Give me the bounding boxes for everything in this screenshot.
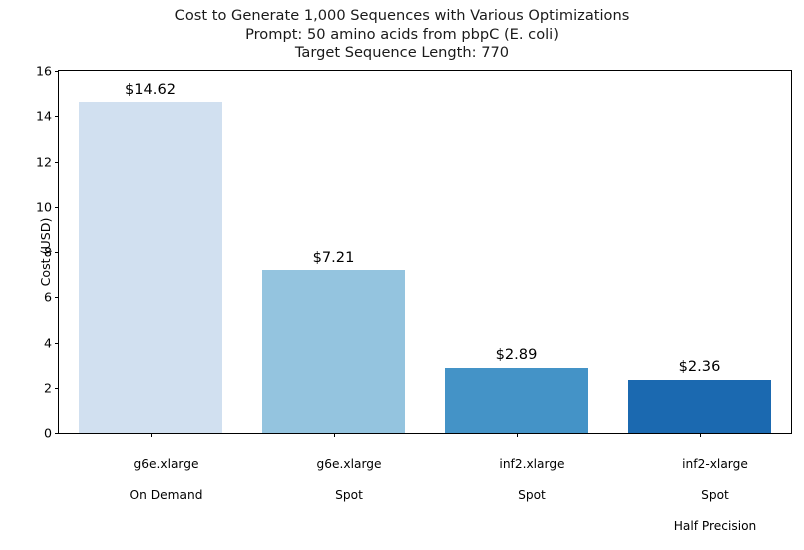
y-tick-label: 12 [36,154,52,169]
y-tick-label: 14 [36,109,52,124]
chart-title-line-2: Prompt: 50 amino acids from pbpC (E. col… [0,26,804,45]
chart-figure: Cost to Generate 1,000 Sequences with Va… [0,0,804,498]
chart-title-block: Cost to Generate 1,000 Sequences with Va… [0,7,804,63]
x-tick-label-inf2-xlarge-spot: inf2.xlarge Spot [468,441,564,519]
y-tick-label: 2 [44,380,52,395]
chart-axes: Cost (USD) 0 2 4 6 8 10 12 [58,70,792,434]
y-tick-label: 4 [44,335,52,350]
y-tick-label: 6 [44,290,52,305]
bar-g6e-xlarge-on-demand[interactable] [79,102,222,433]
chart-plot-area [59,71,791,433]
bar-inf2-xlarge-spot[interactable] [445,368,588,433]
x-tick-label-line: On Demand [130,488,203,502]
x-tick-label-g6e-xlarge-spot: g6e.xlarge Spot [286,441,382,519]
x-tick-mark [151,433,152,437]
x-tick-label-line: Spot [518,488,546,502]
y-tick-label: 16 [36,64,52,79]
y-tick-mark [55,433,59,434]
x-tick-label-line: inf2-xlarge [682,457,748,471]
bar-value-label-3: $2.89 [445,346,588,363]
chart-title-line-3: Target Sequence Length: 770 [0,44,804,63]
x-tick-label-line: Spot [335,488,363,502]
y-tick-label: 8 [44,245,52,260]
x-tick-label-g6e-xlarge-on-demand: g6e.xlarge On Demand [99,441,203,519]
x-tick-mark [517,433,518,437]
bar-value-label-4: $2.36 [628,358,771,375]
x-tick-label-line: g6e.xlarge [317,457,382,471]
bar-value-label-1: $14.62 [79,81,222,98]
bar-g6e-xlarge-spot[interactable] [262,270,405,433]
x-tick-label-line: Spot [701,488,729,502]
x-tick-label-line: inf2.xlarge [499,457,564,471]
chart-title-line-1: Cost to Generate 1,000 Sequences with Va… [0,7,804,26]
bar-inf2-xlarge-spot-half-precision[interactable] [628,380,771,433]
y-tick-label: 10 [36,199,52,214]
y-tick-label: 0 [44,426,52,441]
x-tick-label-line: g6e.xlarge [134,457,199,471]
bar-value-label-2: $7.21 [262,249,405,266]
x-tick-label-inf2-xlarge-spot-half-precision: inf2-xlarge Spot Half Precision [643,441,757,550]
x-tick-label-line: Half Precision [674,519,757,533]
x-tick-mark [334,433,335,437]
x-tick-mark [700,433,701,437]
